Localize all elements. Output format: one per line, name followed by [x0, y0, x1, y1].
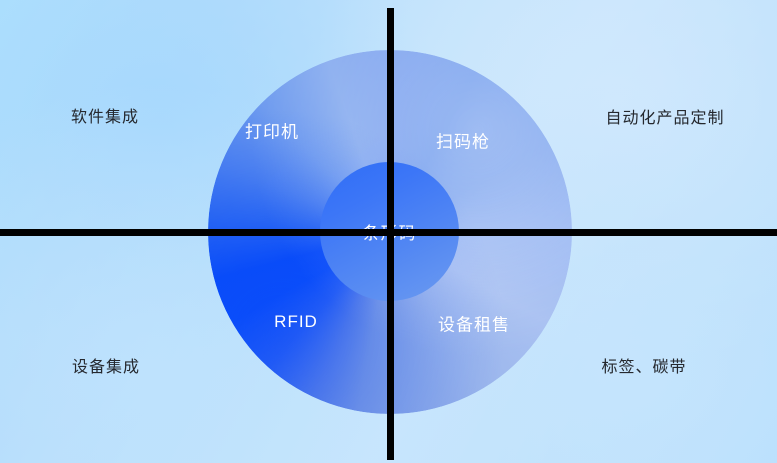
segment-label-rental[interactable]: 设备租售	[438, 311, 510, 336]
outer-label-automation-customizing[interactable]: 自动化产品定制	[605, 104, 724, 128]
vertical-axis-line	[387, 8, 394, 460]
segment-label-scanner[interactable]: 扫码枪	[436, 128, 490, 153]
outer-label-equipment-integration[interactable]: 设备集成	[72, 353, 140, 377]
segment-label-rfid[interactable]: RFID	[274, 312, 318, 332]
diagram-canvas: 条形码 打印机 扫码枪 RFID 设备租售 软件集成 自动化产品定制 设备集成 …	[0, 0, 777, 463]
segment-label-printer[interactable]: 打印机	[245, 118, 299, 143]
outer-label-software-integration[interactable]: 软件集成	[71, 103, 139, 127]
outer-label-labels-ribbons[interactable]: 标签、碳带	[601, 353, 686, 377]
